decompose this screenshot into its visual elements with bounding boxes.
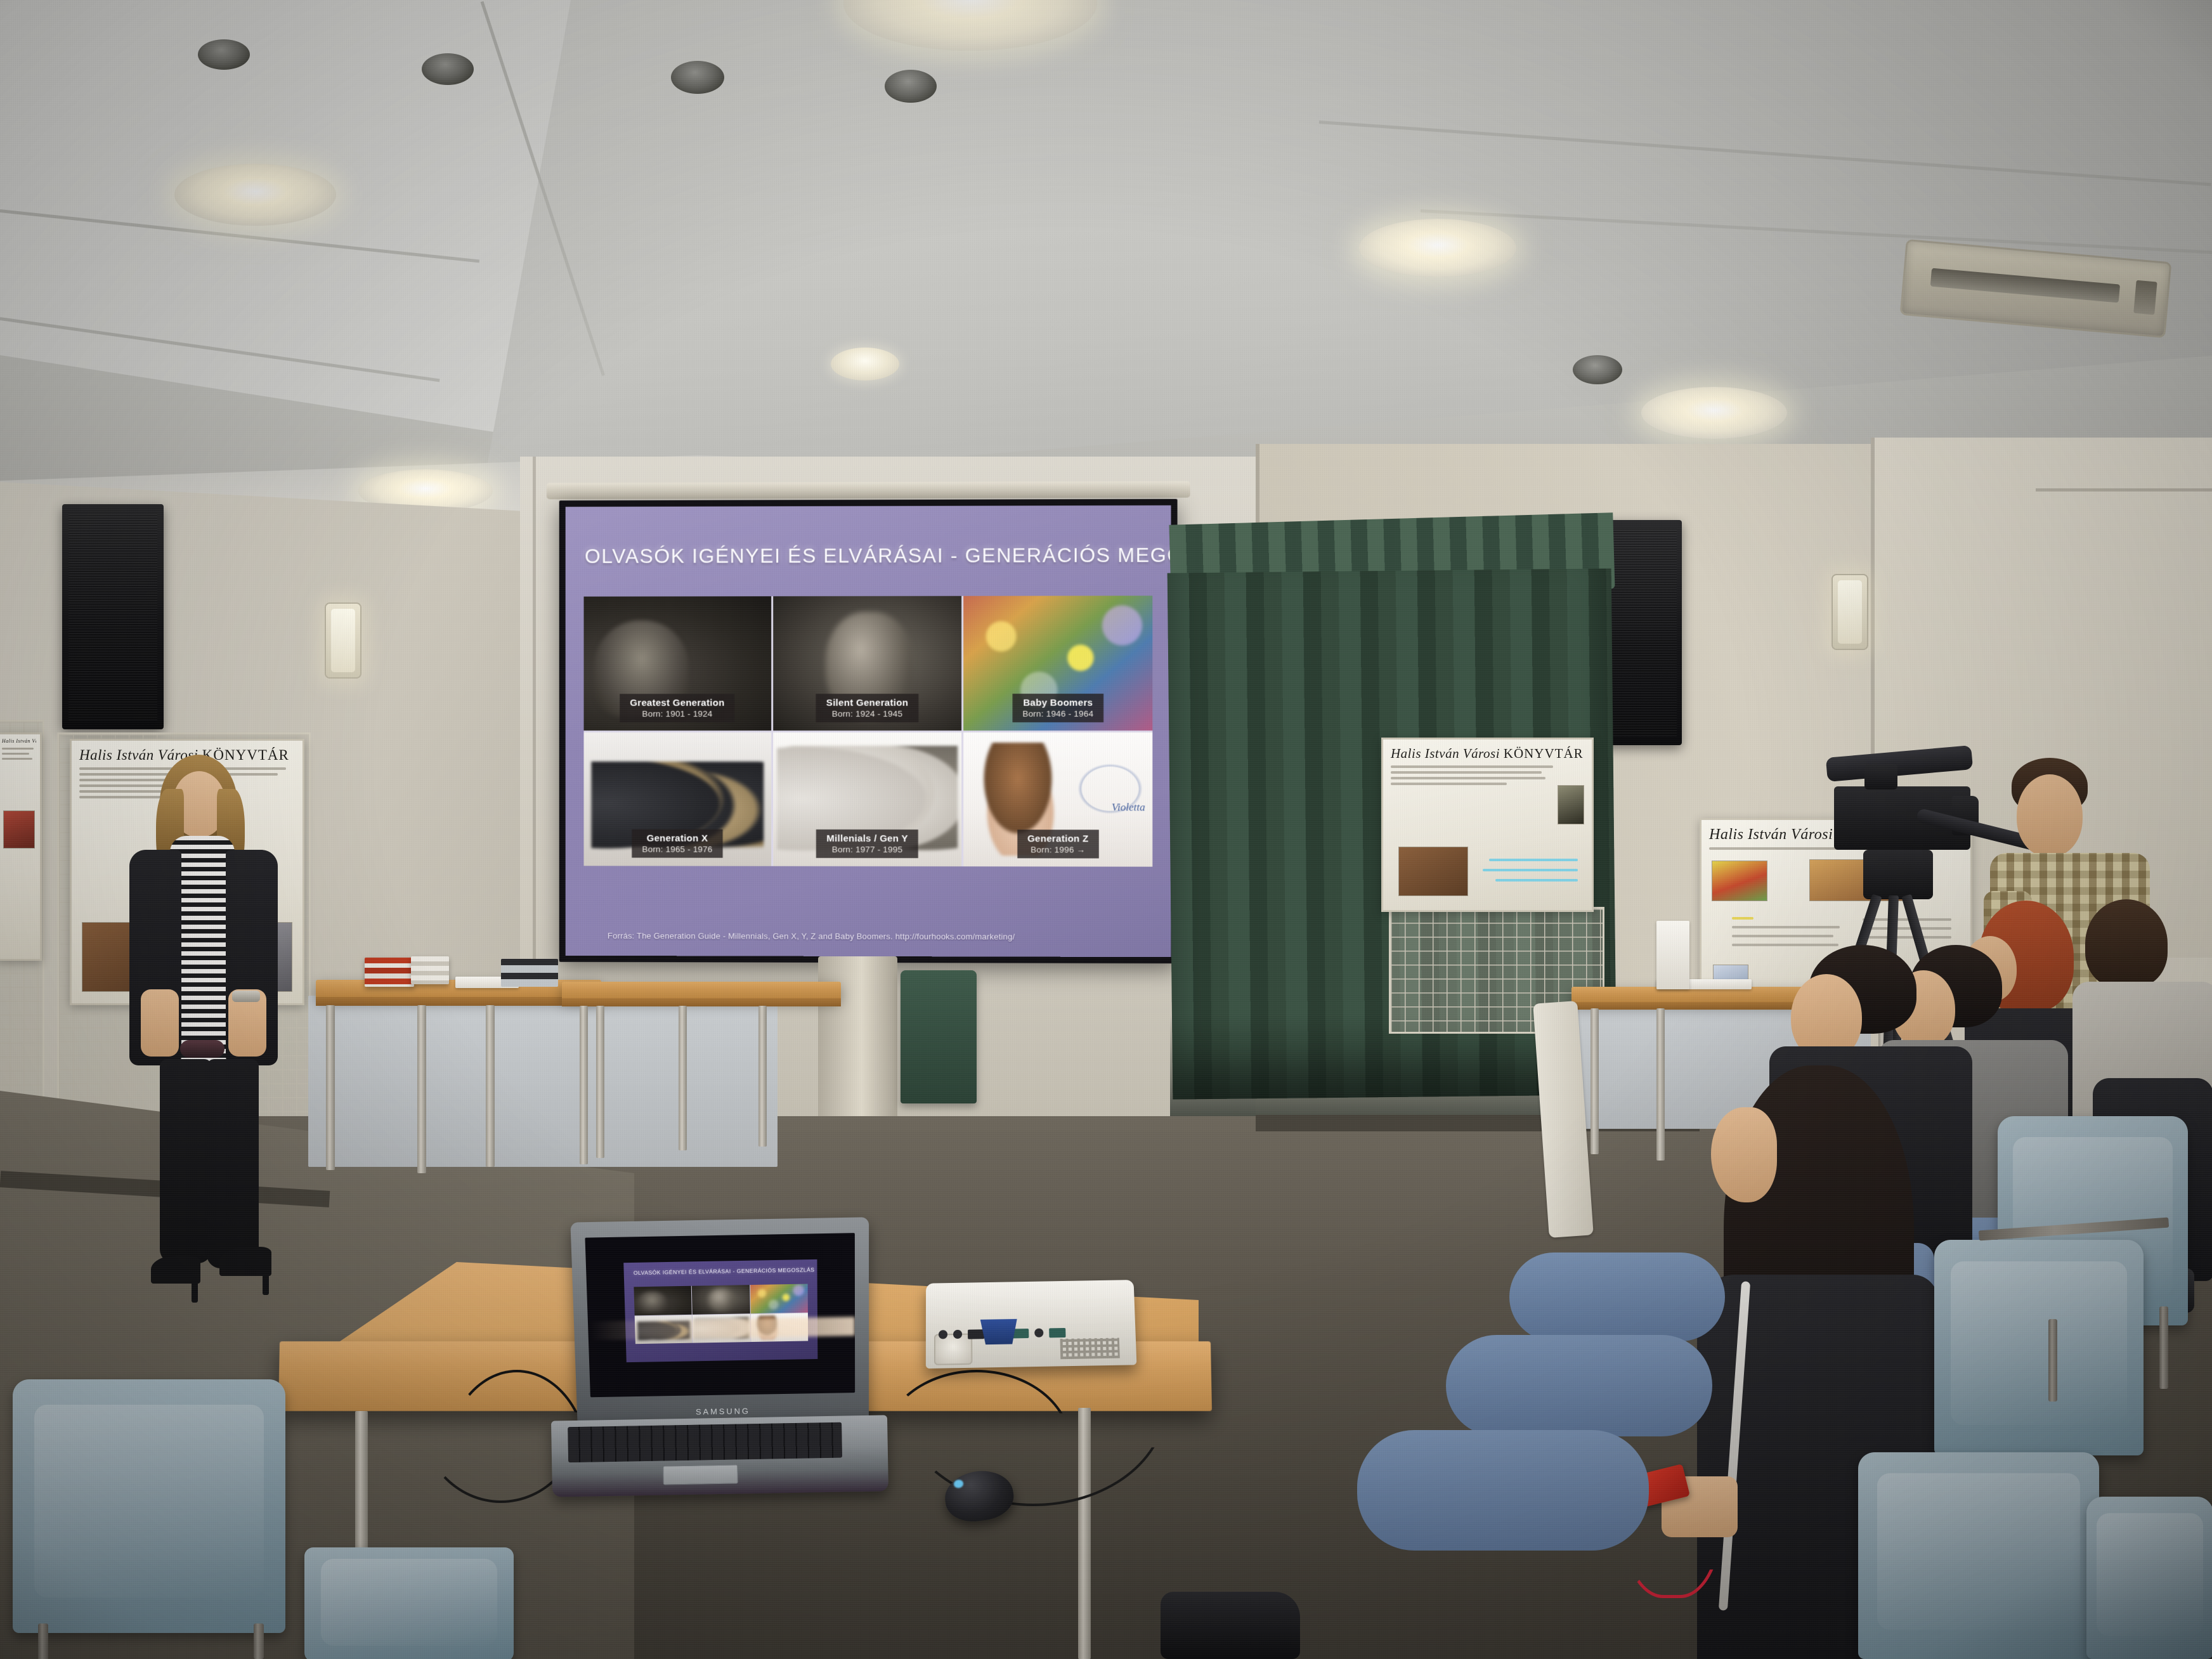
generation-born: Born: 1901 - 1924 [630,709,724,719]
ceiling-spotlight [422,53,474,85]
generation-caption: Generation X Born: 1965 - 1976 [632,829,723,858]
jeans-leg-upper [1509,1252,1725,1341]
ceiling-light [1359,219,1516,277]
poster-image [1712,861,1767,901]
generation-caption: Generation Z Born: 1996 → [1017,830,1099,859]
projector-port-row [939,1322,1123,1344]
screen-border: OLVASÓK IGÉNYEI ÉS ELVÁRÁSAI - GENERÁCIÓ… [559,499,1178,963]
poster-image [1398,847,1468,896]
generation-caption: Greatest Generation Born: 1901 - 1924 [620,694,734,722]
poster-title-main: Halis István Városi [2,738,36,744]
book-stack [411,956,449,984]
laptop-slide: OLVASÓK IGÉNYEI ÉS ELVÁRÁSAI - GENERÁCIÓ… [623,1259,817,1362]
poster-image [1558,785,1584,824]
laptop-generation-photo [750,1284,808,1313]
presenter-heel-spike [263,1268,269,1295]
projector-vga-out-port [1049,1328,1065,1337]
video-projector [926,1280,1137,1369]
poster-highlight-line [1489,859,1578,861]
generation-name: Silent Generation [826,698,908,708]
generation-caption: Millenials / Gen Y Born: 1977 - 1995 [816,829,918,858]
laptop-keyboard[interactable] [568,1422,842,1463]
camera-handle [1864,764,1897,790]
generation-cell-greatest: Greatest Generation Born: 1901 - 1924 [583,596,771,730]
chair-right-3[interactable] [1858,1452,2099,1659]
green-chair-behind-screen [901,970,977,1103]
poster-line [1391,777,1545,779]
poster-body-lines [1391,765,1584,785]
generation-name: Greatest Generation [630,698,724,708]
presenter-heel-spike [192,1276,198,1303]
side-table-center [562,982,841,999]
generation-cell-genz: Violetta Generation Z Born: 1996 → [963,732,1152,867]
person-hair [2085,899,2168,988]
generation-name: Generation X [642,833,712,844]
poster-image [3,810,35,849]
poster-line [1391,765,1553,768]
chair-right-2[interactable] [1934,1240,2144,1455]
laptop-slide-title: OLVASÓK IGÉNYEI ÉS ELVÁRÁSAI - GENERÁCIÓ… [634,1266,810,1276]
poster-line [1863,918,1951,921]
wall-speaker-left [62,504,164,729]
laptop-generation-photo [692,1285,750,1315]
ceiling-spotlight [885,70,937,103]
presenter-leg-right [207,1059,259,1268]
generation-cell-boomers: Baby Boomers Born: 1946 - 1964 [963,595,1152,730]
vga-cable-connector [980,1319,1018,1345]
generation-cell-millennials: Millenials / Gen Y Born: 1977 - 1995 [773,732,961,866]
presenter [101,755,292,1306]
poster-line [2,758,32,760]
projection-screen: OLVASÓK IGÉNYEI ÉS ELVÁRÁSAI - GENERÁCIÓ… [559,499,1178,963]
wall-sconce-lamp [1831,574,1868,650]
poster-title: Halis István Városi KÖNYVTÁR [1391,746,1584,762]
table-leg [486,1005,495,1167]
ceiling-light [831,348,899,381]
ceiling-spotlight [1573,355,1622,384]
laptop-generation-photo [634,1285,692,1315]
book-stack [365,958,414,987]
ceiling-spotlight [198,39,250,70]
ceiling-light [1641,387,1787,439]
laptop-screen: OLVASÓK IGÉNYEI ÉS ELVÁRÁSAI - GENERÁCIÓ… [585,1233,855,1397]
poster-line [2,753,29,755]
laptop-lid: OLVASÓK IGÉNYEI ÉS ELVÁRÁSAI - GENERÁCIÓ… [570,1217,869,1424]
laptop-touchpad[interactable] [663,1465,738,1485]
ceiling-light [174,164,336,226]
poster-highlight-line [1495,879,1578,882]
poster-line [1732,935,1833,937]
presenter-forearm-left [141,989,179,1057]
poster-body-lines [2,748,36,760]
slide-title: OLVASÓK IGÉNYEI ÉS ELVÁRÁSAI - GENERÁCIÓ… [585,543,1171,568]
poster-line [1861,936,1951,939]
slide-generation-grid: Greatest Generation Born: 1901 - 1924 Si… [583,595,1152,866]
vent-slit [1930,268,2121,303]
chair-right-4[interactable] [2086,1497,2212,1659]
poster-center-right: Halis István Városi KÖNYVTÁR [1381,738,1594,912]
projector-usb-port [1034,1329,1043,1337]
chair-foreground-left-seat[interactable] [304,1547,514,1659]
vent-slit [2134,280,2158,315]
presenter-wristwatch [232,991,260,1002]
presentation-room-photo: OLVASÓK IGÉNYEI ÉS ELVÁRÁSAI - GENERÁCIÓ… [0,0,2212,1659]
projector-audio-port [953,1330,962,1339]
poster-line [2,748,34,750]
table-leg [758,1006,767,1147]
chair-leg [2159,1306,2168,1389]
presenter-leg-left [160,1059,212,1263]
generation-name: Baby Boomers [1022,698,1093,708]
poster-line [1865,927,1951,930]
poster-title: Halis István Városi [2,738,36,744]
generation-born: Born: 1924 - 1945 [826,709,908,719]
projector-audio-port [939,1330,947,1339]
wall-seam [533,457,536,1027]
poster-left-small: Halis István Városi [0,732,42,961]
poster-title-library: KÖNYVTÁR [1504,746,1584,761]
table-leg [679,1006,687,1150]
man-face [2017,774,2083,857]
generation-cell-genx: Generation X Born: 1965 - 1976 [583,732,771,866]
poster-title-main: Halis István Városi [1391,746,1500,761]
chair-leg [38,1623,48,1659]
wall-sconce-lamp [325,602,361,679]
wall-base-panel-left [308,996,777,1167]
side-table-edge [562,998,841,1006]
chair-foreground-left[interactable] [13,1379,285,1633]
generation-caption: Baby Boomers Born: 1946 - 1964 [1012,694,1103,722]
generation-born: Born: 1946 - 1964 [1022,709,1093,719]
jeans-leg-bottom [1357,1430,1649,1551]
seated-person-jeans [1382,1240,1738,1658]
slide-source-line: Forrás: The Generation Guide - Millennia… [608,931,1015,941]
presenter-remote-clicker [180,1040,224,1058]
poster-highlight-line [1732,917,1753,920]
projector-hdmi-port [968,1329,984,1339]
poster-line [1391,783,1507,785]
generation-born: Born: 1965 - 1976 [642,845,712,854]
poster-title-main: Halis István Városi [1709,826,1833,843]
table-leg [580,1006,588,1164]
generation-caption: Silent Generation Born: 1924 - 1945 [816,694,918,722]
poster-line [1391,771,1542,774]
binder-stack [501,959,558,987]
table-leg [596,1006,604,1158]
generation-name: Millenials / Gen Y [826,833,908,844]
laptop-base[interactable] [551,1415,888,1497]
sneaker [1161,1592,1300,1659]
screen-roller-housing [547,481,1190,500]
tripod-head [1863,850,1933,899]
ceiling-spotlight [671,61,724,94]
leaflet-stand [1656,921,1689,989]
generation-name: Generation Z [1027,834,1089,845]
table-leg [417,1005,426,1173]
poster-line [1732,926,1840,928]
wall-seam [2036,488,2212,491]
woman-face [1711,1107,1777,1202]
generation-cell-silent: Silent Generation Born: 1924 - 1945 [773,596,961,731]
projected-slide: OLVASÓK IGÉNYEI ÉS ELVÁRÁSAI - GENERÁCIÓ… [566,505,1171,957]
generation-born: Born: 1977 - 1995 [826,845,908,854]
poster-highlight-line [1483,869,1578,871]
side-table-edge [316,997,601,1006]
slide-doodle-text: Violetta [1058,748,1145,829]
generation-born: Born: 1996 → [1027,845,1089,855]
table-leg [326,1005,335,1170]
chair-leg [2048,1319,2057,1402]
chair-leg [254,1623,264,1659]
jeans-leg-lower [1446,1335,1712,1436]
